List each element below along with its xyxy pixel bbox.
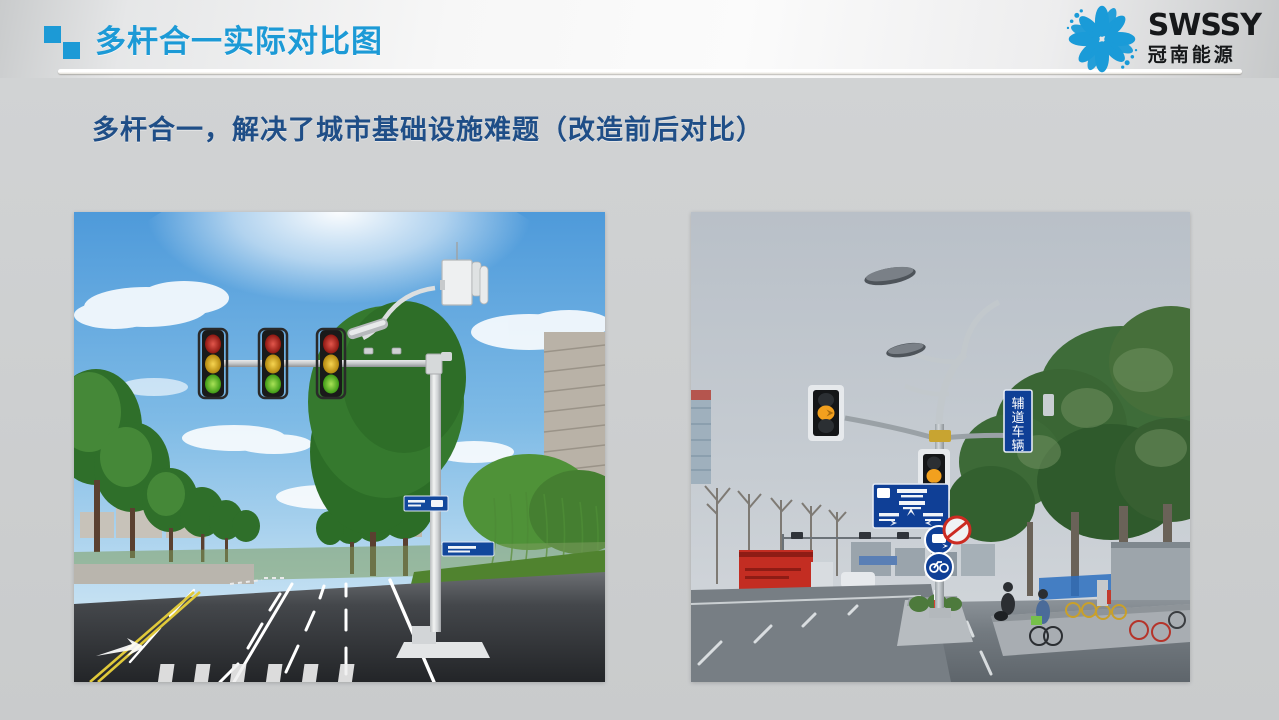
svg-text:辅: 辅 — [1011, 397, 1024, 412]
page-title: 多杆合一实际对比图 — [95, 16, 383, 61]
brand-name-cn: 冠南能源 — [1148, 46, 1261, 65]
svg-text:道: 道 — [1011, 411, 1024, 426]
square-bullet-icon — [44, 26, 61, 43]
brand-logo: SWSSY 冠南能源 — [1065, 5, 1261, 71]
svg-text:车: 车 — [1011, 424, 1024, 440]
slide-canvas: 多杆合一实际对比图 — [0, 0, 1279, 720]
slide-subtitle: 多杆合一，解决了城市基础设施难题（改造前后对比） — [92, 108, 764, 147]
square-bullet-icon-secondary — [63, 42, 80, 59]
photo-real-street-integrated-pole: 辅 道 车 辆 — [691, 212, 1190, 682]
rendering-multi-pole-integrated — [74, 212, 605, 682]
svg-text:辆: 辆 — [1011, 439, 1024, 454]
slide-header: 多杆合一实际对比图 — [0, 0, 1279, 78]
brand-name-en: SWSSY — [1148, 11, 1261, 41]
water-droplet-flower-logo-icon — [1065, 5, 1139, 71]
